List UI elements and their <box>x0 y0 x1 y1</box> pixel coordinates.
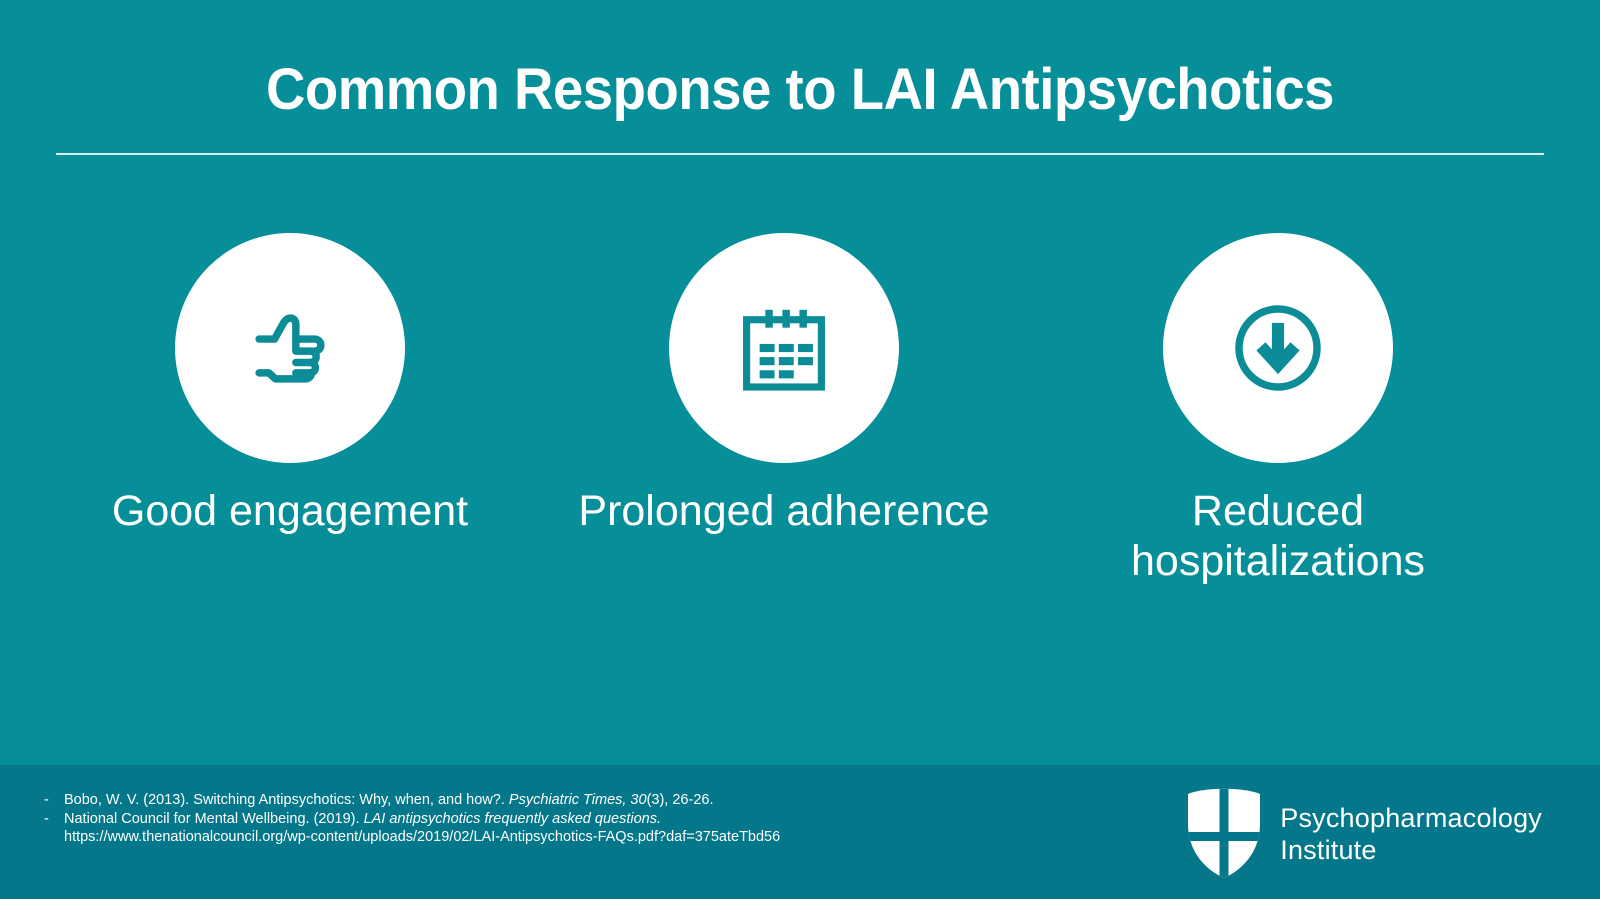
benefit-label-1: Good engagement <box>112 487 468 537</box>
reference-entry-1: - Bobo, W. V. (2013). Switching Antipsyc… <box>44 791 1044 810</box>
thumbs-up-icon <box>238 296 342 400</box>
icon-circle-3 <box>1163 233 1393 463</box>
reference-pre-2: National Council for Mental Wellbeing. (… <box>64 811 364 827</box>
benefits-row: Good engagement <box>0 233 1600 587</box>
page-title: Common Response to LAI Antipsychotics <box>48 60 1552 121</box>
reference-italic-2: LAI antipsychotics frequently asked ques… <box>364 811 661 827</box>
circle-arrow-down-icon <box>1226 296 1330 400</box>
reference-bullet-1: - <box>44 791 64 810</box>
reference-pre-1: Bobo, W. V. (2013). Switching Antipsycho… <box>64 792 509 808</box>
benefit-label-2: Prolonged adherence <box>578 487 989 537</box>
reference-text-2: National Council for Mental Wellbeing. (… <box>64 810 1044 829</box>
title-divider <box>56 153 1544 155</box>
reference-post-1: (3), 26-26. <box>647 792 714 808</box>
benefit-label-3: Reduced hospitalizations <box>1063 487 1493 587</box>
icon-circle-2 <box>669 233 899 463</box>
reference-url[interactable]: https://www.thenationalcouncil.org/wp-co… <box>64 828 1044 847</box>
benefit-item-reduced-hospitalizations: Reduced hospitalizations <box>1031 233 1525 587</box>
benefit-item-prolonged-adherence: Prolonged adherence <box>537 233 1031 587</box>
title-block: Common Response to LAI Antipsychotics <box>0 60 1600 121</box>
references-block: - Bobo, W. V. (2013). Switching Antipsyc… <box>44 791 1044 847</box>
brand-logo-text: Psychopharmacology Institute <box>1280 803 1542 867</box>
reference-text-1: Bobo, W. V. (2013). Switching Antipsycho… <box>64 791 1044 810</box>
calendar-icon <box>732 296 836 400</box>
icon-circle-1 <box>175 233 405 463</box>
slide: Common Response to LAI Antipsychotics <box>0 0 1600 899</box>
benefit-item-good-engagement: Good engagement <box>43 233 537 587</box>
brand-logo-line2: Institute <box>1280 835 1542 867</box>
reference-entry-2: - National Council for Mental Wellbeing.… <box>44 810 1044 829</box>
footer-bar: - Bobo, W. V. (2013). Switching Antipsyc… <box>0 765 1600 899</box>
brand-logo: Psychopharmacology Institute <box>1184 784 1542 885</box>
reference-bullet-2: - <box>44 810 64 829</box>
reference-italic-1: Psychiatric Times, 30 <box>509 792 647 808</box>
brand-logo-line1: Psychopharmacology <box>1280 803 1542 833</box>
shield-icon <box>1184 784 1264 885</box>
